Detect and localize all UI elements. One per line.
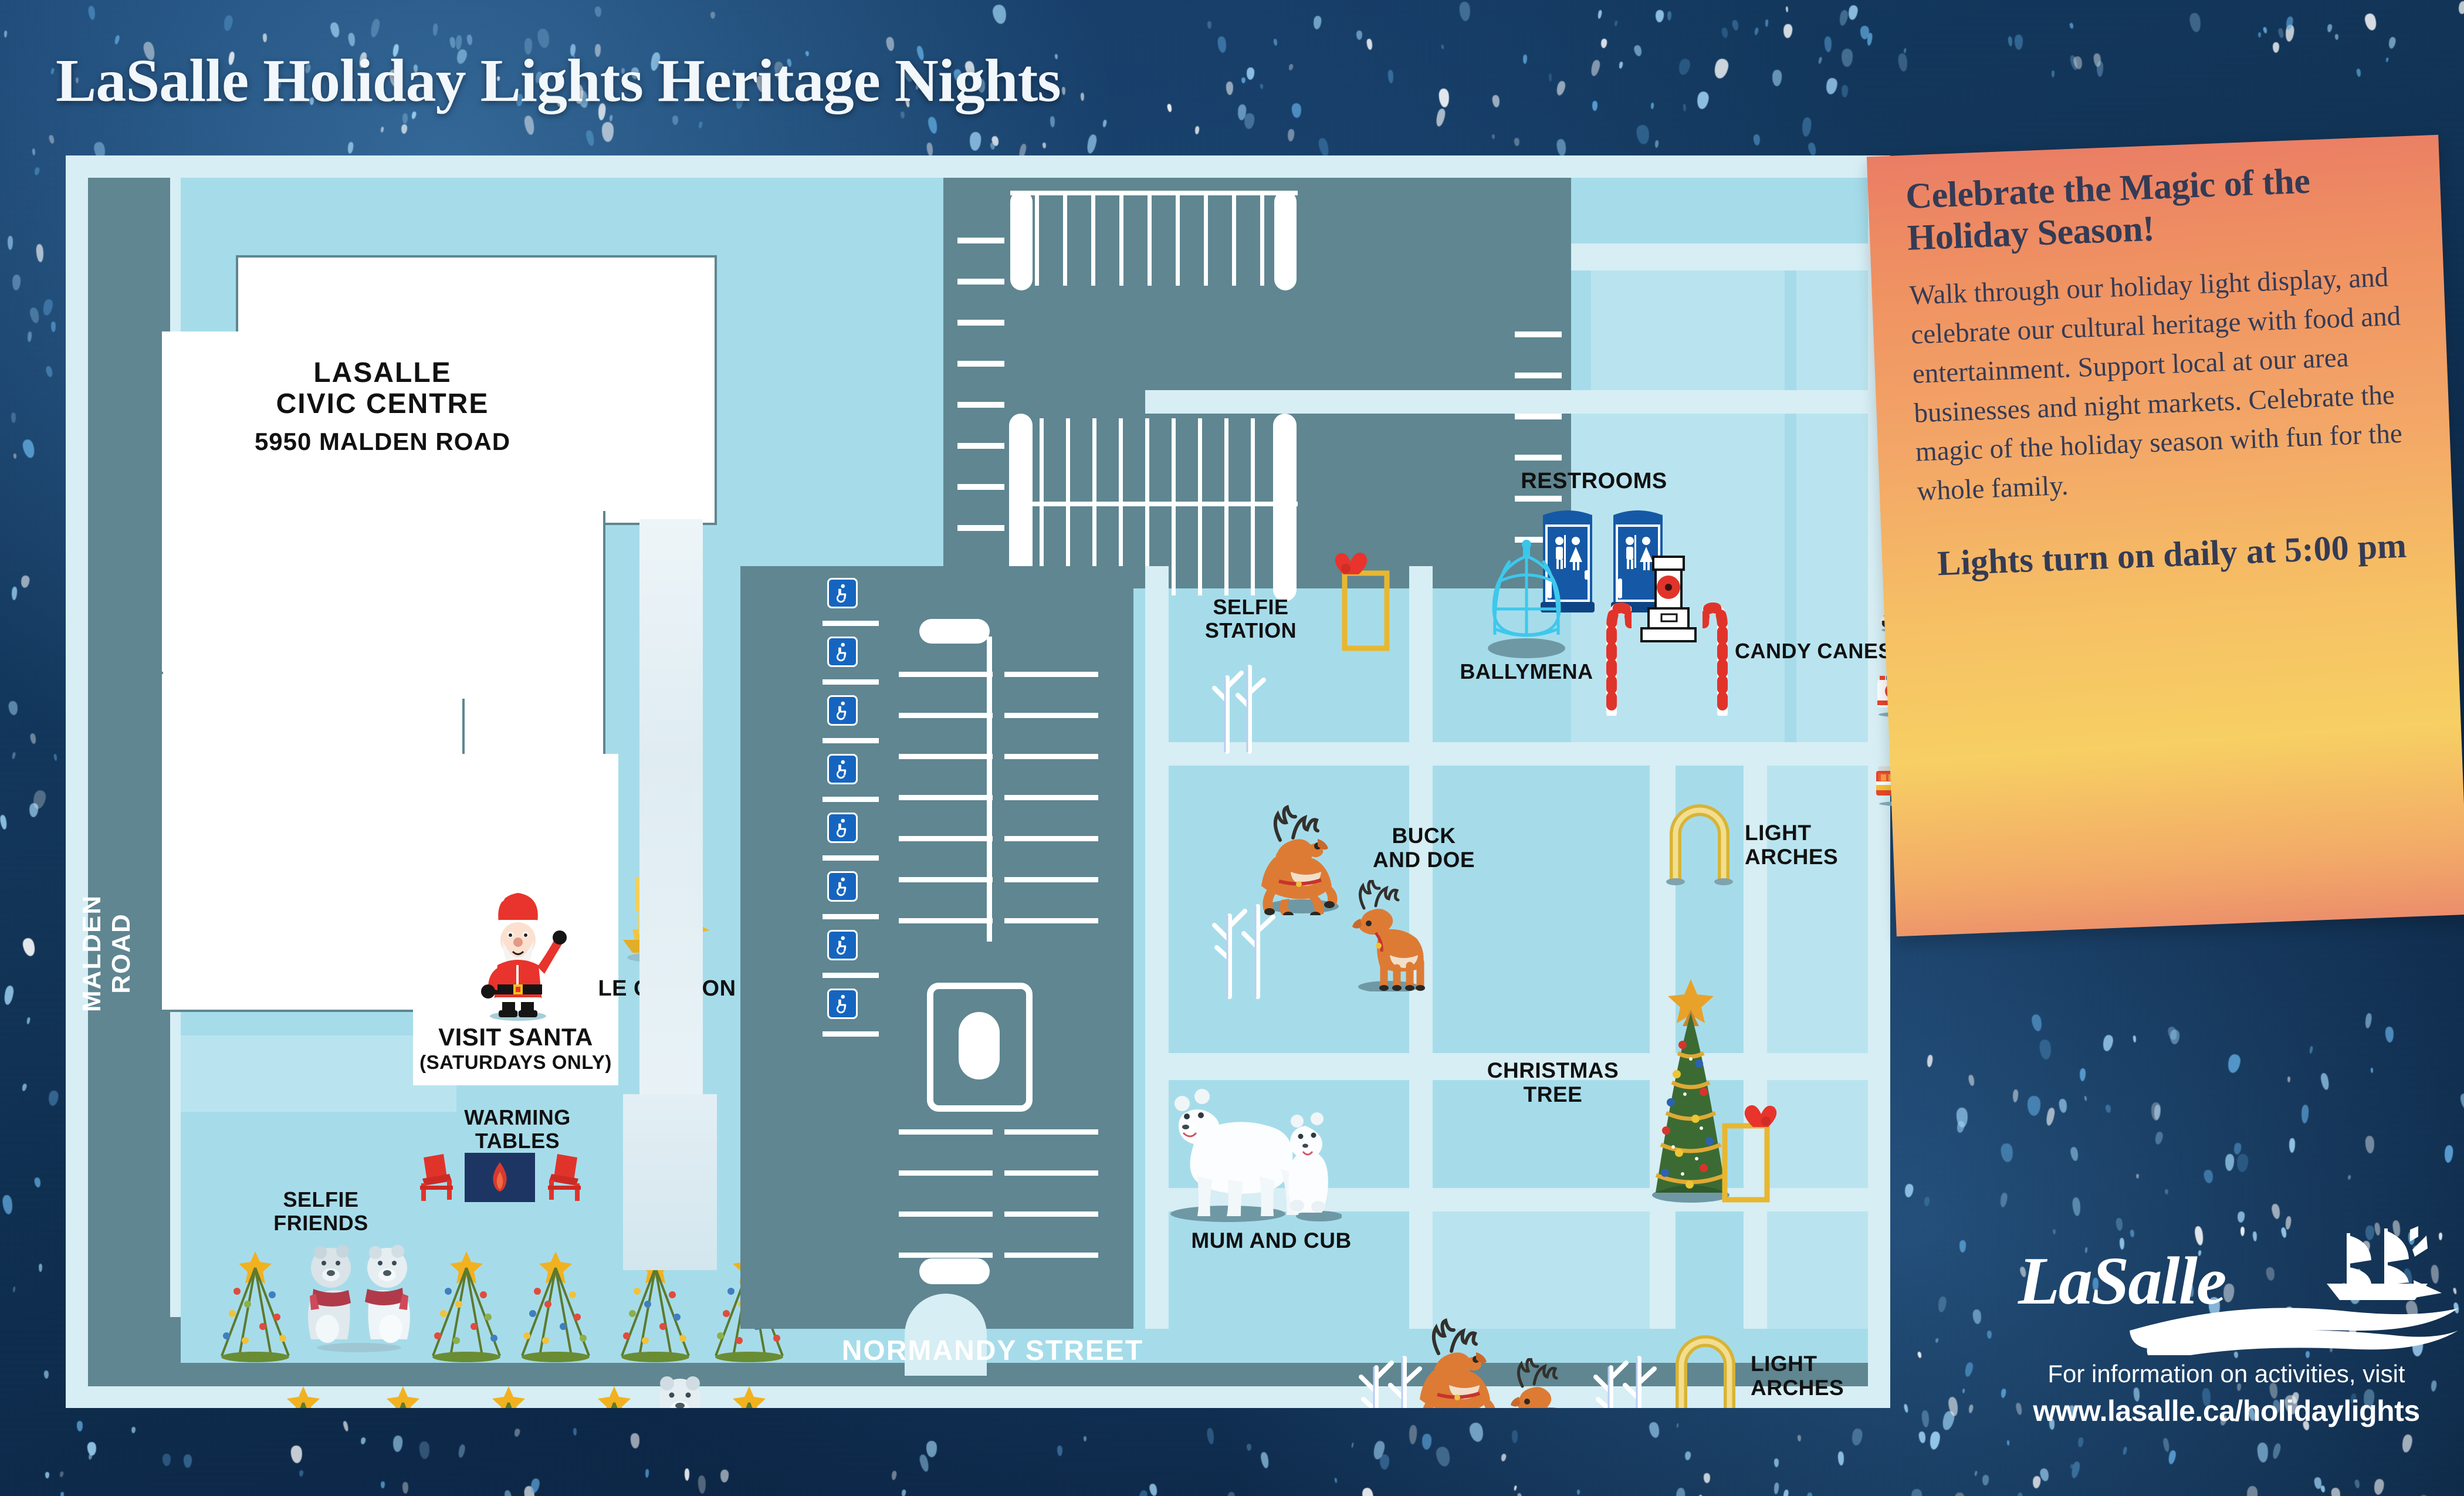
parking-stall-divider — [1176, 191, 1180, 286]
parking-stall-divider — [1119, 418, 1123, 502]
parking-stall-divider — [1004, 1129, 1098, 1135]
visit-santa-label: VISIT SANTA — [413, 1024, 618, 1051]
curb-dash — [957, 402, 1004, 408]
parking-stall-divider — [899, 1211, 993, 1217]
restrooms-label: RESTROOMS — [1503, 469, 1685, 494]
light-tree-icon — [512, 1241, 600, 1370]
parking-stall-divider — [1172, 418, 1176, 502]
walkway-vertical-a — [1145, 566, 1169, 1329]
block-ne-mid-right — [1796, 414, 1868, 742]
light-arch-icon — [1661, 798, 1738, 889]
curb-dash — [957, 525, 1004, 531]
parking-stall-divider — [899, 672, 993, 677]
block-e-bottom — [1767, 1211, 1868, 1329]
parking-stall-divider — [1004, 836, 1098, 841]
parking-stall-divider — [1004, 713, 1098, 718]
parking-aisle-mid-right — [1273, 414, 1297, 601]
ballymena-dome-icon — [1474, 540, 1579, 663]
footer-url[interactable]: www.lasalle.ca/holidaylights — [1995, 1394, 2458, 1428]
ice-pathway — [639, 519, 703, 1118]
accessible-stall-line — [823, 1031, 879, 1037]
selfie-friends-label: SELFIE FRIENDS — [242, 1188, 400, 1234]
footer-info-line: For information on activities, visit — [1995, 1360, 2458, 1388]
parking-stall-divider — [1004, 1211, 1098, 1217]
accessible-stall-line — [823, 679, 879, 685]
parking-stall-divider — [1004, 1253, 1098, 1258]
info-scroll: Celebrate the Magic of the Holiday Seaso… — [1869, 76, 2464, 991]
parking-stall-divider — [899, 836, 993, 841]
parking-stall-divider — [899, 918, 993, 923]
light-tree-icon — [422, 1241, 510, 1370]
ballymena-label: BALLYMENA — [1459, 660, 1594, 683]
cenotaph-icon — [1632, 549, 1705, 657]
parking-stall-divider — [1148, 191, 1152, 286]
central-lot-island-bottom — [919, 1258, 990, 1284]
accessible-parking-icon[interactable] — [827, 754, 858, 784]
ice-pathway-lower — [623, 1094, 717, 1270]
accessible-stall-line — [823, 738, 879, 743]
mum-and-cub-label: MUM AND CUB — [1169, 1229, 1374, 1253]
walkway-horizontal-d — [1145, 390, 1868, 414]
central-lot-median — [987, 637, 992, 942]
block-se-bottom — [1433, 1211, 1650, 1329]
light-tree-icon — [705, 1376, 793, 1408]
polar-bear-icon — [644, 1373, 717, 1408]
page-title: LaSalle Holiday Lights Heritage Nights — [56, 46, 1061, 116]
parking-stall-divider — [1092, 418, 1096, 502]
parking-stall-divider — [1091, 191, 1095, 286]
curb-dash — [957, 279, 1004, 285]
parking-stall-divider — [1066, 418, 1070, 502]
parking-stall-divider — [1251, 418, 1255, 502]
curb-dash — [1515, 496, 1562, 502]
accessible-parking-icon[interactable] — [827, 989, 858, 1019]
light-arches-south-label: LIGHT ARCHES — [1751, 1352, 1890, 1400]
normandy-street-label: NORMANDY STREET — [770, 1335, 1216, 1367]
parking-row-line-mid — [1010, 502, 1298, 506]
parking-stall-divider — [899, 713, 993, 718]
accessible-parking-icon[interactable] — [827, 813, 858, 843]
civic-centre-address: 5950 MALDEN ROAD — [201, 428, 564, 455]
warming-tables-label: WARMING TABLES — [435, 1106, 600, 1152]
central-lot-kiosk-marker — [959, 1012, 1000, 1079]
parking-stall-divider — [1035, 191, 1039, 286]
birch-tree-icon — [1585, 1329, 1667, 1408]
accessible-parking-icon[interactable] — [827, 930, 858, 960]
reindeer-buck-icon — [1257, 804, 1362, 918]
parking-stall-divider — [1004, 877, 1098, 882]
parking-row-line-top — [1010, 191, 1298, 195]
parking-stall-divider — [899, 1170, 993, 1176]
reindeer-doe-icon — [1506, 1358, 1594, 1408]
malden-road-label: MALDEN ROAD — [77, 874, 136, 1033]
reindeer-buck-icon — [1415, 1317, 1521, 1408]
candy-canes-label: CANDY CANES — [1735, 639, 1890, 663]
accessible-stall-line — [823, 973, 879, 978]
santa-icon — [468, 886, 568, 1024]
scroll-text-block: Celebrate the Magic of the Holiday Seaso… — [1905, 157, 2425, 585]
malden-road-pavement — [88, 178, 170, 1386]
parking-stall-divider — [899, 795, 993, 800]
parking-stall-divider — [1004, 918, 1098, 923]
accessible-stall-line — [823, 855, 879, 861]
accessible-parking-icon[interactable] — [827, 637, 858, 667]
parking-stall-divider — [1198, 506, 1202, 595]
light-tree-icon — [359, 1376, 447, 1408]
parking-stall-divider — [899, 754, 993, 759]
footer-branding: LaSalle For information on activities, v… — [1995, 1226, 2458, 1428]
polar-bear-icon — [300, 1241, 418, 1355]
reindeer-doe-icon — [1348, 880, 1436, 994]
light-tree-icon — [211, 1241, 299, 1370]
curb-dash — [1515, 455, 1562, 461]
block-ne-upper-right — [1796, 270, 1868, 390]
polar-bear-icon — [1166, 1082, 1342, 1226]
parking-stall-divider — [1172, 506, 1176, 595]
lasalle-wordmark: LaSalle — [2018, 1243, 2225, 1321]
curb-dash — [1515, 331, 1562, 337]
parking-stall-divider — [1224, 418, 1228, 502]
parking-stall-divider — [899, 877, 993, 882]
block-e-mid — [1767, 766, 1868, 1053]
parking-stall-divider — [1232, 191, 1236, 286]
walkway-horizontal-e — [1571, 243, 1868, 270]
light-arches-north-label: LIGHT ARCHES — [1745, 821, 1886, 869]
accessible-parking-icon[interactable] — [827, 871, 858, 902]
parking-stall-divider — [1251, 506, 1255, 595]
accessible-parking-icon[interactable] — [827, 578, 858, 608]
parking-stall-divider — [899, 1253, 993, 1258]
accessible-parking-icon[interactable] — [827, 695, 858, 726]
curb-dash — [957, 484, 1004, 490]
selfie-frame-icon — [1714, 1100, 1791, 1214]
parking-stall-divider — [1004, 795, 1098, 800]
curb-dash — [957, 320, 1004, 326]
scroll-body-text: Walk through our holiday light display, … — [1909, 257, 2422, 511]
accessible-stall-line — [823, 914, 879, 919]
selfie-station-label: SELFIE STATION — [1183, 595, 1318, 642]
parking-stall-divider — [1004, 1170, 1098, 1176]
curb-dash — [1515, 373, 1562, 378]
selfie-frame-icon — [1321, 549, 1397, 663]
visit-santa-note: (SATURDAYS ONLY) — [401, 1052, 630, 1073]
parking-aisle-top-left — [1010, 191, 1033, 290]
adirondack-chair-icon — [542, 1153, 583, 1205]
light-arch-icon — [1667, 1329, 1744, 1408]
accessible-stall-line — [823, 621, 879, 626]
parking-aisle-top-right — [1274, 191, 1297, 290]
curb-dash — [957, 361, 1004, 367]
light-tree-icon — [465, 1376, 553, 1408]
block-ne-upper — [1591, 270, 1785, 390]
birch-tree-icon — [1204, 637, 1274, 757]
light-tree-icon — [259, 1376, 347, 1408]
adirondack-chair-icon — [418, 1153, 459, 1205]
parking-stall-divider — [899, 1129, 993, 1135]
parking-stall-divider — [1145, 418, 1149, 502]
parking-stall-divider — [1004, 754, 1098, 759]
central-lot-island-top — [919, 619, 990, 644]
christmas-tree-label: CHRISTMAS TREE — [1474, 1059, 1632, 1106]
site-map: LASALLE CIVIC CENTRE 5950 MALDEN ROAD — [66, 155, 1890, 1408]
candy-cane-icon — [1594, 593, 1632, 719]
parking-stall-divider — [1004, 672, 1098, 677]
parking-stall-divider — [1204, 191, 1208, 286]
accessible-stall-line — [823, 797, 879, 802]
curb-dash — [1515, 414, 1562, 419]
fire-pit-icon — [465, 1153, 535, 1205]
curb-dash — [957, 443, 1004, 449]
parking-stall-divider — [1198, 418, 1202, 502]
parking-stall-divider — [1119, 191, 1123, 286]
parking-stall-divider — [1040, 418, 1044, 502]
buck-and-doe-north-label: BUCK AND DOE — [1351, 824, 1497, 872]
civic-centre-name: LASALLE CIVIC CENTRE — [201, 358, 564, 420]
parking-stall-divider — [1260, 191, 1264, 286]
parking-stall-divider — [1224, 506, 1228, 595]
parking-stall-divider — [1063, 191, 1067, 286]
curb-dash — [957, 238, 1004, 243]
